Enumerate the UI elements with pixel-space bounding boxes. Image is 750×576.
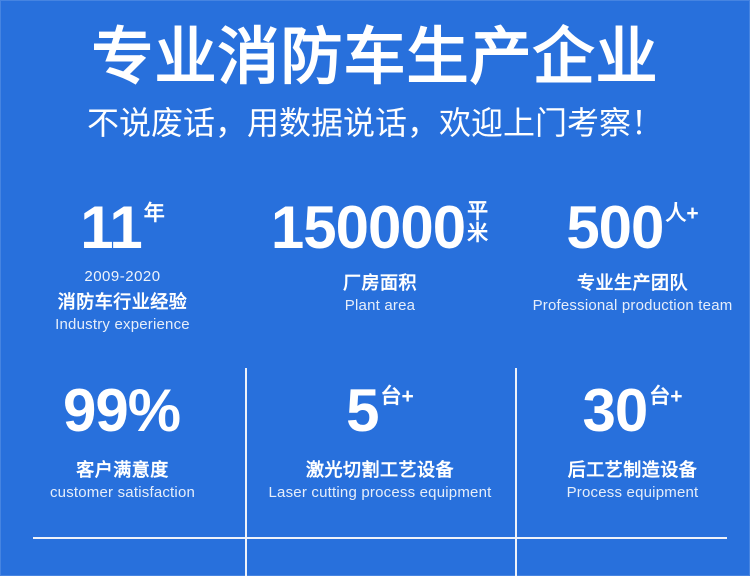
stat-unit: 台+ [649, 381, 682, 407]
stat-label-cn: 消防车行业经验 [58, 291, 188, 313]
stat-label-cn: 厂房面积 [343, 272, 417, 294]
banner-header: 专业消防车生产企业 不说废话，用数据说话，欢迎上门考察！ [0, 22, 750, 142]
promo-banner: 专业消防车生产企业 不说废话，用数据说话，欢迎上门考察！ 11 年 2009-2… [0, 0, 750, 576]
stats-row-bottom: 99% 客户满意度 customer satisfaction 5 台+ 激光切… [0, 353, 750, 522]
stat-label-cn: 激光切割工艺设备 [306, 459, 454, 481]
stat-label-en: Plant area [345, 296, 415, 315]
stat-number-group: 150000 平米 [271, 198, 489, 258]
stat-cell-industry-experience: 11 年 2009-2020 消防车行业经验 Industry experien… [0, 184, 245, 353]
stat-cell-plant-area: 150000 平米 厂房面积 Plant area [245, 184, 515, 353]
stat-number: 11 [80, 198, 141, 258]
stat-cell-laser-cutting-equipment: 5 台+ 激光切割工艺设备 Laser cutting process equi… [245, 353, 515, 522]
stat-unit: 人+ [665, 198, 698, 224]
grid-divider-vertical-left [245, 368, 247, 576]
stat-number: 500 [566, 198, 663, 258]
stat-year-range: 2009-2020 [84, 268, 160, 286]
page-title: 专业消防车生产企业 [0, 22, 750, 94]
stat-cell-customer-satisfaction: 99% 客户满意度 customer satisfaction [0, 353, 245, 522]
page-subtitle: 不说废话，用数据说话，欢迎上门考察！ [0, 104, 750, 142]
stats-grid: 11 年 2009-2020 消防车行业经验 Industry experien… [0, 184, 750, 522]
stat-number: 99% [63, 381, 180, 441]
stat-unit: 年 [144, 198, 165, 224]
stat-number-group: 5 台+ [346, 381, 414, 441]
stat-number-group: 30 台+ [582, 381, 682, 441]
stat-number-group: 11 年 [80, 198, 164, 258]
stat-label-en: Industry experience [55, 315, 190, 334]
stat-number: 30 [582, 381, 647, 441]
stat-label-en: Process equipment [567, 483, 699, 502]
stat-label-en: Professional production team [533, 296, 733, 315]
stat-cell-process-equipment: 30 台+ 后工艺制造设备 Process equipment [515, 353, 750, 522]
stat-number: 150000 [271, 198, 465, 258]
stat-number-group: 99% [63, 381, 182, 441]
stat-label-cn: 客户满意度 [76, 459, 169, 481]
stat-label-en: Laser cutting process equipment [269, 483, 492, 502]
stat-number-group: 500 人+ [566, 198, 698, 258]
stat-label-cn: 专业生产团队 [577, 272, 688, 294]
stats-row-top: 11 年 2009-2020 消防车行业经验 Industry experien… [0, 184, 750, 353]
stat-unit: 平米 [467, 198, 489, 245]
grid-divider-horizontal [33, 537, 727, 539]
stat-label-cn: 后工艺制造设备 [568, 459, 698, 481]
stat-cell-production-team: 500 人+ 专业生产团队 Professional production te… [515, 184, 750, 353]
stat-label-en: customer satisfaction [50, 483, 195, 502]
stat-number: 5 [346, 381, 378, 441]
stat-unit: 台+ [381, 381, 414, 407]
grid-divider-vertical-right [515, 368, 517, 576]
